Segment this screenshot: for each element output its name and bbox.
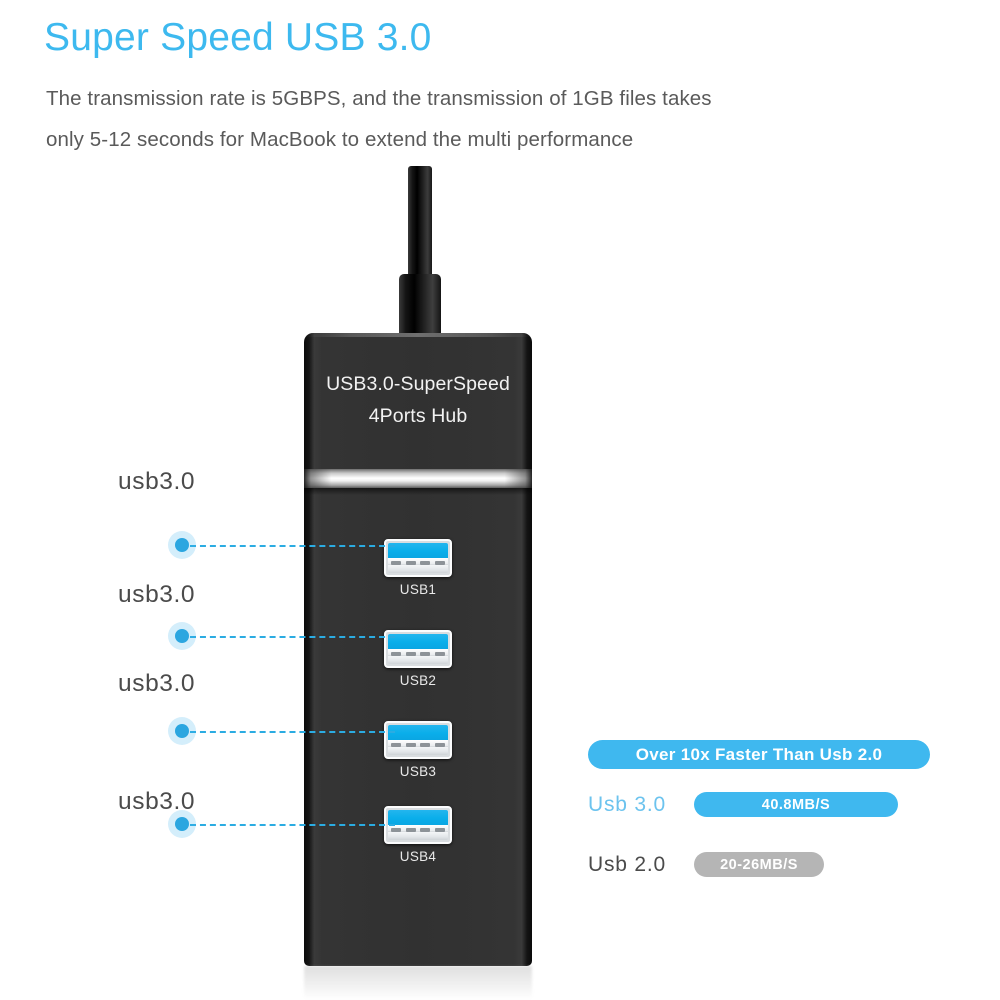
hub-band-shadow bbox=[304, 488, 532, 495]
usb-port-contacts bbox=[391, 560, 445, 565]
callout-dot-2[interactable] bbox=[168, 622, 196, 650]
speed-row-usb3-bar: 40.8MB/S bbox=[694, 792, 898, 817]
callout-dot-3[interactable] bbox=[168, 717, 196, 745]
hub-silver-band bbox=[304, 469, 532, 488]
usb-cable-strain-relief bbox=[399, 274, 441, 336]
usb-port-label-2: USB2 bbox=[363, 673, 473, 688]
speed-row-usb2-label: Usb 2.0 bbox=[588, 853, 694, 877]
usb-port-3[interactable] bbox=[384, 721, 452, 759]
usb-hub-device: USB3.0-SuperSpeed 4Ports Hub USB1 USB2 bbox=[304, 333, 532, 966]
speed-row-usb3-label: Usb 3.0 bbox=[588, 793, 694, 817]
callout-label-2: usb3.0 bbox=[118, 581, 195, 609]
speed-comparison-banner: Over 10x Faster Than Usb 2.0 bbox=[588, 740, 930, 769]
hub-label-line-1: USB3.0-SuperSpeed bbox=[304, 368, 532, 400]
usb-port-blue-strip bbox=[388, 725, 448, 740]
usb-port-group-3: USB3 bbox=[363, 721, 473, 779]
usb-port-group-1: USB1 bbox=[363, 539, 473, 597]
callout-dot-4[interactable] bbox=[168, 810, 196, 838]
usb-cable-wire bbox=[408, 166, 432, 281]
speed-row-usb2-bar: 20-26MB/S bbox=[694, 852, 824, 877]
usb-port-blue-strip bbox=[388, 810, 448, 825]
hub-printed-label: USB3.0-SuperSpeed 4Ports Hub bbox=[304, 368, 532, 432]
description-line-2: only 5-12 seconds for MacBook to extend … bbox=[46, 119, 926, 160]
callout-line-3 bbox=[190, 731, 395, 733]
usb-port-group-4: USB4 bbox=[363, 806, 473, 864]
callout-dot-1[interactable] bbox=[168, 531, 196, 559]
usb-port-group-2: USB2 bbox=[363, 630, 473, 688]
description-paragraph: The transmission rate is 5GBPS, and the … bbox=[46, 78, 926, 160]
usb-port-cavity bbox=[388, 565, 448, 573]
description-line-1: The transmission rate is 5GBPS, and the … bbox=[46, 78, 926, 119]
usb-port-contacts bbox=[391, 651, 445, 656]
usb-port-label-1: USB1 bbox=[363, 582, 473, 597]
usb-port-contacts bbox=[391, 827, 445, 832]
product-infographic: Super Speed USB 3.0 The transmission rat… bbox=[0, 0, 1000, 1000]
hub-top-highlight bbox=[304, 333, 532, 337]
usb-port-contacts bbox=[391, 742, 445, 747]
usb-port-blue-strip bbox=[388, 543, 448, 558]
usb-port-label-4: USB4 bbox=[363, 849, 473, 864]
callout-line-4 bbox=[190, 824, 395, 826]
usb-port-cavity bbox=[388, 747, 448, 755]
page-title: Super Speed USB 3.0 bbox=[44, 16, 432, 60]
usb-port-cavity bbox=[388, 656, 448, 664]
speed-row-usb2: Usb 2.0 20-26MB/S bbox=[588, 852, 824, 877]
speed-row-usb3: Usb 3.0 40.8MB/S bbox=[588, 792, 898, 817]
callout-label-3: usb3.0 bbox=[118, 670, 195, 698]
usb-port-cavity bbox=[388, 832, 448, 840]
callout-line-2 bbox=[190, 636, 395, 638]
hub-label-line-2: 4Ports Hub bbox=[304, 400, 532, 432]
callout-line-1 bbox=[190, 545, 395, 547]
hub-surface-reflection bbox=[304, 966, 532, 1000]
callout-label-1: usb3.0 bbox=[118, 468, 195, 496]
usb-port-blue-strip bbox=[388, 634, 448, 649]
usb-port-label-3: USB3 bbox=[363, 764, 473, 779]
